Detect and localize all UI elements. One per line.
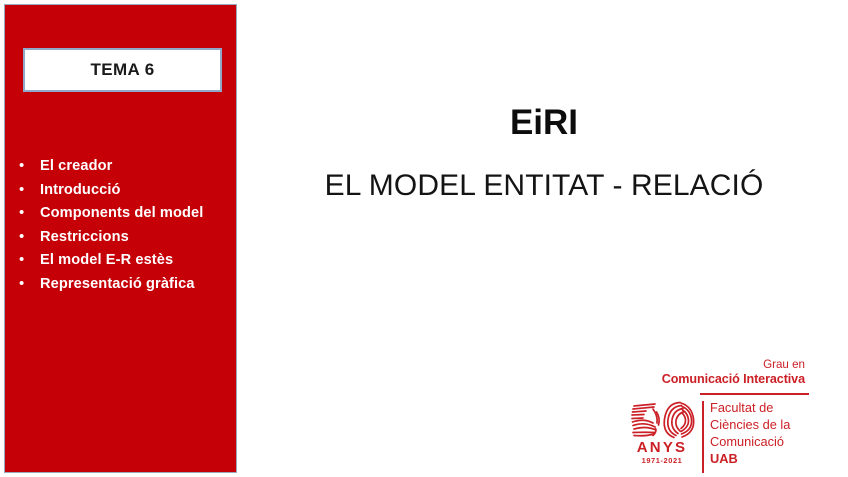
list-item[interactable]: • Representació gràfica <box>19 276 239 300</box>
agenda-item-label: El creador <box>40 158 112 174</box>
bullet-icon: • <box>19 229 40 244</box>
emblem-anys-label: ANYS <box>624 439 700 456</box>
bullet-icon: • <box>19 182 40 197</box>
agenda-item-label: Components del model <box>40 205 203 221</box>
agenda-item-label: Introducció <box>40 182 121 198</box>
list-item[interactable]: • Introducció <box>19 182 239 206</box>
bullet-icon: • <box>19 276 40 291</box>
faculty-divider <box>702 401 704 473</box>
faculty-line: UAB <box>710 450 814 467</box>
faculty-line: Facultat de <box>710 399 814 416</box>
logo-body: ANYS 1971-2021 Facultat de Ciències de l… <box>604 399 814 477</box>
bullet-icon: • <box>19 205 40 220</box>
degree-name-label: Comunicació Interactiva <box>604 372 814 388</box>
faculty-line: Comunicació <box>710 433 814 450</box>
list-item[interactable]: • Restriccions <box>19 229 239 253</box>
agenda-list: • El creador • Introducció • Components … <box>19 158 239 299</box>
logo-divider-rule <box>700 393 809 395</box>
presentation-slide: TEMA 6 • El creador • Introducció • Comp… <box>0 0 848 477</box>
emblem-years-label: 1971-2021 <box>624 456 700 465</box>
agenda-item-label: El model E-R estès <box>40 252 173 268</box>
topic-number-box: TEMA 6 <box>23 48 222 92</box>
title-block: EiRI EL MODEL ENTITAT - RELACIÓ <box>240 104 848 202</box>
agenda-item-label: Representació gràfica <box>40 276 195 292</box>
bullet-icon: • <box>19 158 40 173</box>
topic-number-label: TEMA 6 <box>90 60 154 80</box>
anniversary-emblem-icon: ANYS 1971-2021 <box>624 399 700 473</box>
list-item[interactable]: • Components del model <box>19 205 239 229</box>
agenda-item-label: Restriccions <box>40 229 129 245</box>
faculty-line: Ciències de la <box>710 416 814 433</box>
bullet-icon: • <box>19 252 40 267</box>
faculty-name-block: Facultat de Ciències de la Comunicació U… <box>710 399 814 467</box>
sidebar-panel: TEMA 6 • El creador • Introducció • Comp… <box>4 4 237 473</box>
institution-logo-lockup: Grau en Comunicació Interactiva <box>604 358 814 388</box>
list-item[interactable]: • El model E-R estès <box>19 252 239 276</box>
list-item[interactable]: • El creador <box>19 158 239 182</box>
page-title: EiRI <box>240 104 848 143</box>
page-subtitle: EL MODEL ENTITAT - RELACIÓ <box>240 169 848 202</box>
degree-prefix-label: Grau en <box>604 358 814 372</box>
